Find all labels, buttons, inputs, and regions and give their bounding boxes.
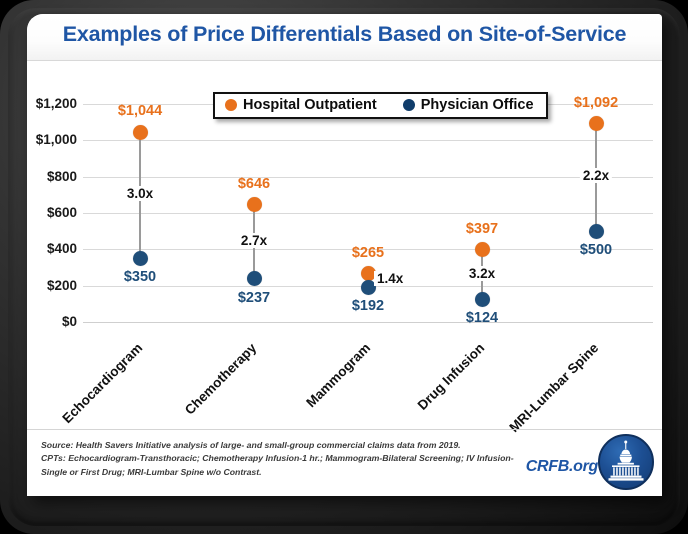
value-label-physician-office: $350 [124, 269, 156, 285]
source-line-3: Single or First Drug; MRI-Lumbar Spine w… [41, 466, 511, 479]
value-label-physician-office: $500 [580, 242, 612, 258]
data-point-hospital-outpatient[interactable] [589, 116, 604, 131]
chart-card: Examples of Price Differentials Based on… [27, 14, 662, 496]
legend-label-hospital-outpatient: Hospital Outpatient [243, 97, 377, 113]
chart-footer: Source: Health Savers Initiative analysi… [27, 429, 662, 496]
gridline [83, 213, 653, 214]
y-axis-tick-label: $400 [27, 241, 77, 256]
y-axis-tick-label: $1,200 [27, 96, 77, 111]
source-line-2: CPTs: Echocardiogram-Transthoracic; Chem… [41, 452, 511, 465]
data-point-hospital-outpatient[interactable] [475, 242, 490, 257]
gridline [83, 140, 653, 141]
y-axis-tick-label: $800 [27, 169, 77, 184]
data-point-hospital-outpatient[interactable] [247, 197, 262, 212]
data-point-hospital-outpatient[interactable] [133, 125, 148, 140]
data-point-physician-office[interactable] [475, 292, 490, 307]
ratio-annotation: 3.0x [124, 186, 156, 201]
value-label-hospital-outpatient: $1,044 [118, 103, 162, 119]
gridline [83, 322, 653, 323]
data-point-physician-office[interactable] [589, 224, 604, 239]
ratio-annotation: 2.2x [580, 168, 612, 183]
ratio-annotation: 3.2x [466, 266, 498, 281]
crfb-wordmark: CRFB.org [526, 458, 598, 476]
y-axis-tick-label: $0 [27, 314, 77, 329]
orange-circle-marker-icon [225, 99, 237, 111]
device-bezel: Examples of Price Differentials Based on… [0, 0, 688, 534]
crfb-capitol-dome-logo-icon [598, 434, 654, 490]
title-bar: Examples of Price Differentials Based on… [27, 14, 662, 61]
legend-item-physician-office: Physician Office [403, 97, 534, 113]
value-label-hospital-outpatient: $646 [238, 176, 270, 192]
value-label-physician-office: $192 [352, 298, 384, 314]
source-line-1: Source: Health Savers Initiative analysi… [41, 439, 511, 452]
blue-circle-marker-icon [403, 99, 415, 111]
data-point-physician-office[interactable] [133, 251, 148, 266]
value-label-hospital-outpatient: $1,092 [574, 95, 618, 111]
legend-label-physician-office: Physician Office [421, 97, 534, 113]
plot-area: $0$200$400$600$800$1,000$1,200 $1,044$35… [27, 60, 662, 450]
gridline [83, 177, 653, 178]
legend-item-hospital-outpatient: Hospital Outpatient [225, 97, 377, 113]
source-note: Source: Health Savers Initiative analysi… [41, 439, 511, 479]
y-axis-tick-label: $1,000 [27, 132, 77, 147]
value-label-hospital-outpatient: $397 [466, 221, 498, 237]
chart-title: Examples of Price Differentials Based on… [27, 22, 662, 47]
value-label-hospital-outpatient: $265 [352, 245, 384, 261]
ratio-annotation: 2.7x [238, 233, 270, 248]
y-axis-tick-label: $200 [27, 278, 77, 293]
value-label-physician-office: $237 [238, 290, 270, 306]
value-label-physician-office: $124 [466, 310, 498, 326]
ratio-annotation: 1.4x [374, 271, 406, 286]
data-point-physician-office[interactable] [247, 271, 262, 286]
chart-legend: Hospital Outpatient Physician Office [213, 92, 548, 119]
y-axis-tick-label: $600 [27, 205, 77, 220]
